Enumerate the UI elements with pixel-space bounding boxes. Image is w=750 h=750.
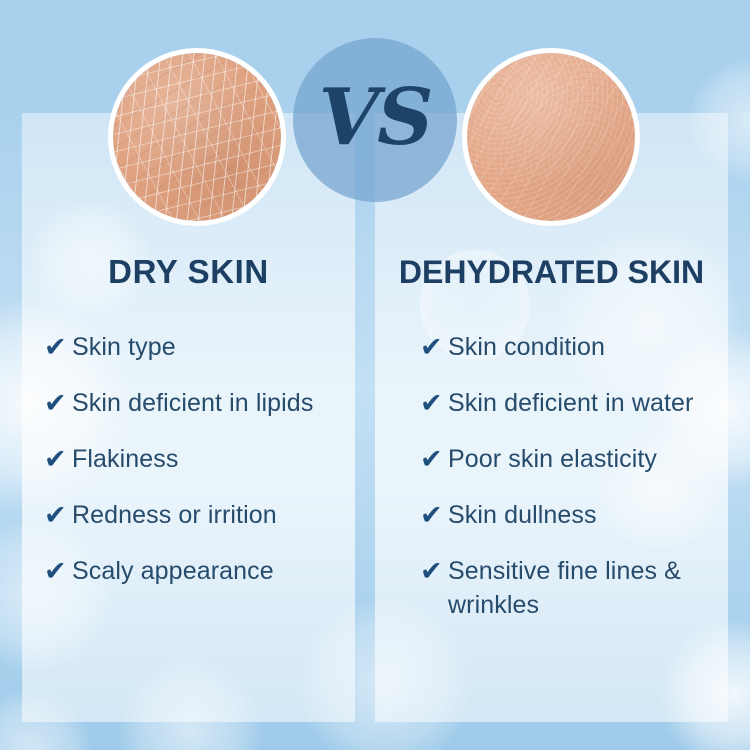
list-item: ✔ Poor skin elasticity <box>420 442 720 476</box>
dry-skin-texture <box>113 53 281 221</box>
versus-badge: VS <box>293 38 457 202</box>
check-icon: ✔ <box>44 331 72 365</box>
list-item: ✔ Sensitive fine lines & wrinkles <box>420 554 720 622</box>
check-icon: ✔ <box>44 499 72 533</box>
feature-list-dry-skin: ✔ Skin type ✔ Skin deficient in lipids ✔… <box>44 330 344 610</box>
check-icon: ✔ <box>420 387 448 421</box>
dehydrated-skin-image <box>462 48 640 226</box>
check-icon: ✔ <box>44 443 72 477</box>
check-icon: ✔ <box>420 443 448 477</box>
list-item: ✔ Skin deficient in lipids <box>44 386 344 420</box>
check-icon: ✔ <box>44 387 72 421</box>
list-item: ✔ Redness or irrition <box>44 498 344 532</box>
list-item-label: Skin dullness <box>448 498 597 532</box>
check-icon: ✔ <box>420 331 448 365</box>
column-heading-dry-skin: DRY SKIN <box>22 252 355 292</box>
list-item-label: Skin type <box>72 330 176 364</box>
check-icon: ✔ <box>44 555 72 589</box>
list-item-label: Skin deficient in lipids <box>72 386 313 420</box>
list-item: ✔ Skin dullness <box>420 498 720 532</box>
column-heading-dehydrated-skin: DEHYDRATED SKIN <box>375 252 728 292</box>
list-item-label: Scaly appearance <box>72 554 274 588</box>
list-item-label: Poor skin elasticity <box>448 442 657 476</box>
list-item-label: Skin condition <box>448 330 605 364</box>
dehydrated-skin-texture <box>467 53 635 221</box>
check-icon: ✔ <box>420 499 448 533</box>
check-icon: ✔ <box>420 555 448 589</box>
list-item-label: Skin deficient in water <box>448 386 693 420</box>
list-item: ✔ Skin type <box>44 330 344 364</box>
infographic-canvas: VS DRY SKIN DEHYDRATED SKIN ✔ Skin type … <box>0 0 750 750</box>
list-item-label: Flakiness <box>72 442 179 476</box>
list-item-label: Redness or irrition <box>72 498 277 532</box>
list-item: ✔ Skin deficient in water <box>420 386 720 420</box>
dry-skin-image <box>108 48 286 226</box>
versus-label: VS <box>319 79 432 157</box>
list-item-label: Sensitive fine lines & wrinkles <box>448 554 720 622</box>
list-item: ✔ Flakiness <box>44 442 344 476</box>
feature-list-dehydrated-skin: ✔ Skin condition ✔ Skin deficient in wat… <box>420 330 720 644</box>
list-item: ✔ Scaly appearance <box>44 554 344 588</box>
list-item: ✔ Skin condition <box>420 330 720 364</box>
